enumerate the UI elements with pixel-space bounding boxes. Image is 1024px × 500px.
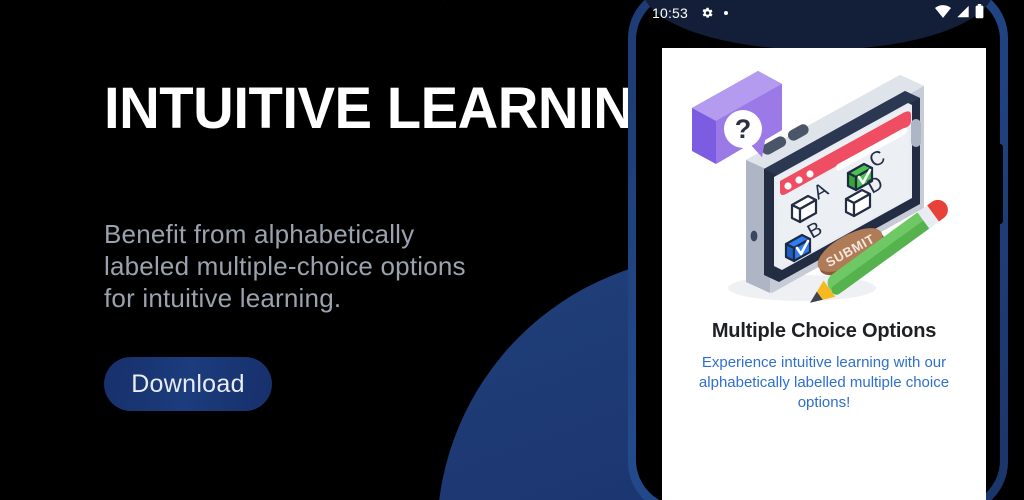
status-time: 10:53 [652,5,688,21]
promo-content: INTUITIVE LEARNING Benefit from alphabet… [104,0,644,500]
power-button-icon[interactable] [997,144,1003,224]
gear-icon [700,6,714,20]
card-description: Experience intuitive learning with our a… [674,353,974,413]
svg-text:?: ? [735,114,752,144]
wifi-icon [935,5,951,21]
download-button[interactable]: Download [104,357,272,411]
phone-mockup: 10:53 [628,0,1008,500]
app-screen: A B C [662,48,986,500]
battery-icon [975,4,984,22]
card-title: Multiple Choice Options [670,320,978,343]
promo-banner: INTUITIVE LEARNING Benefit from alphabet… [0,0,1024,500]
promo-title: INTUITIVE LEARNING [104,78,677,140]
promo-description: Benefit from alphabetically labeled mult… [104,218,484,314]
notification-dot-icon [724,11,728,15]
signal-icon [956,5,970,21]
multiple-choice-quiz-illustration: A B C [662,52,986,314]
status-bar: 10:53 [652,0,984,26]
status-indicators [935,4,984,22]
